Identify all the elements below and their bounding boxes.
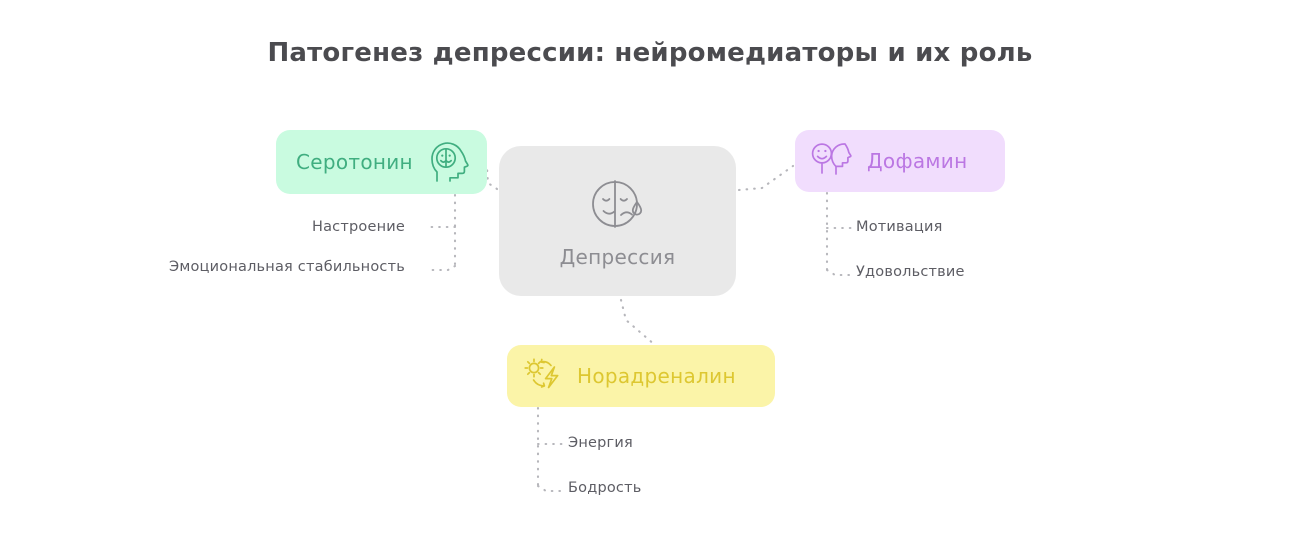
sub-label-serotonin-mood: Настроение xyxy=(312,219,405,235)
sub-label-noradrenalin-vigor: Бодрость xyxy=(568,480,641,496)
sub-label-dopamine-motivation: Мотивация xyxy=(856,219,943,235)
diagram-canvas: Патогенез депрессии: нейромедиаторы и их… xyxy=(0,0,1300,546)
page-title: Патогенез депрессии: нейромедиаторы и их… xyxy=(0,38,1300,68)
dopamine-label: Дофамин xyxy=(867,149,967,173)
connector-center-dopamine xyxy=(739,166,793,190)
node-card-dopamine[interactable]: Дофамин xyxy=(795,130,1005,192)
serotonin-label: Серотонин xyxy=(296,150,413,174)
sub-label-noradrenalin-energy: Энергия xyxy=(568,435,633,451)
connector-dopamine-pleasure xyxy=(827,270,853,275)
connector-serotonin-emotional xyxy=(430,266,455,270)
sub-label-serotonin-emotional-stability: Эмоциональная стабильность xyxy=(169,259,405,275)
smiley-head-profile-icon xyxy=(809,140,855,182)
node-card-depression[interactable]: Депрессия xyxy=(499,146,736,296)
head-with-mind-face-icon xyxy=(429,141,469,183)
sad-happy-face-teardrop-icon xyxy=(585,173,651,235)
center-node-label: Депрессия xyxy=(560,245,676,269)
node-card-serotonin[interactable]: Серотонин xyxy=(276,130,487,194)
connector-noradrenalin-vigor xyxy=(538,486,565,491)
noradrenalin-label: Норадреналин xyxy=(577,364,736,388)
node-card-noradrenalin[interactable]: Норадреналин xyxy=(507,345,775,407)
sub-label-dopamine-pleasure: Удовольствие xyxy=(856,264,965,280)
sun-lightning-energy-icon xyxy=(521,355,567,397)
connector-center-noradrenalin xyxy=(621,300,655,345)
connector-center-serotonin xyxy=(487,168,497,189)
